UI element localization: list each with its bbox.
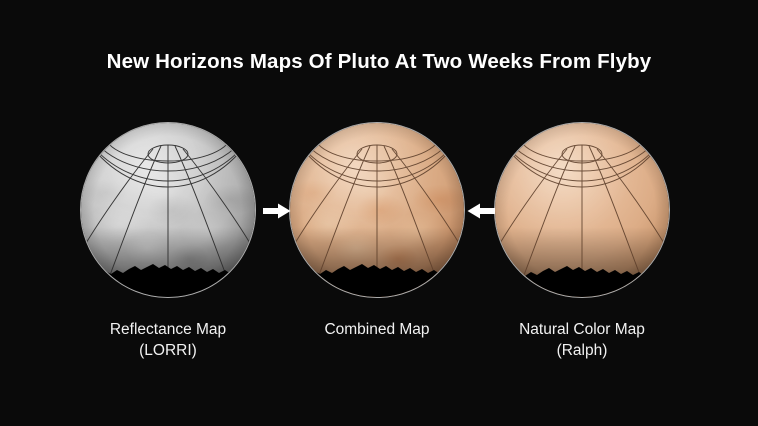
arrow-right-icon (263, 203, 291, 219)
terminator-shadow (290, 123, 464, 297)
globe-panel-reflectance (78, 120, 258, 302)
caption-line-1: Combined Map (324, 321, 429, 338)
arrow-left-icon (467, 203, 495, 219)
globe-surface-combined (290, 123, 464, 297)
page-title: New Horizons Maps Of Pluto At Two Weeks … (0, 50, 758, 74)
terminator-shadow (495, 123, 669, 297)
globe-natural-color (495, 123, 669, 297)
globe-surface-natural-color (495, 123, 669, 297)
globe-panel-combined (287, 120, 467, 302)
caption-natural-color: Natural Color Map (Ralph) (467, 319, 697, 361)
caption-line-1: Natural Color Map (519, 321, 645, 338)
caption-line-2: (LORRI) (53, 340, 283, 361)
caption-combined: Combined Map (262, 319, 492, 340)
terminator-shadow (81, 123, 255, 297)
globe-reflectance (81, 123, 255, 297)
caption-line-2: (Ralph) (467, 340, 697, 361)
pluto-maps-figure: New Horizons Maps Of Pluto At Two Weeks … (0, 0, 758, 426)
globe-combined (290, 123, 464, 297)
caption-reflectance: Reflectance Map (LORRI) (53, 319, 283, 361)
caption-line-1: Reflectance Map (110, 321, 226, 338)
globe-panel-natural-color (492, 120, 672, 302)
globe-surface-reflectance (81, 123, 255, 297)
